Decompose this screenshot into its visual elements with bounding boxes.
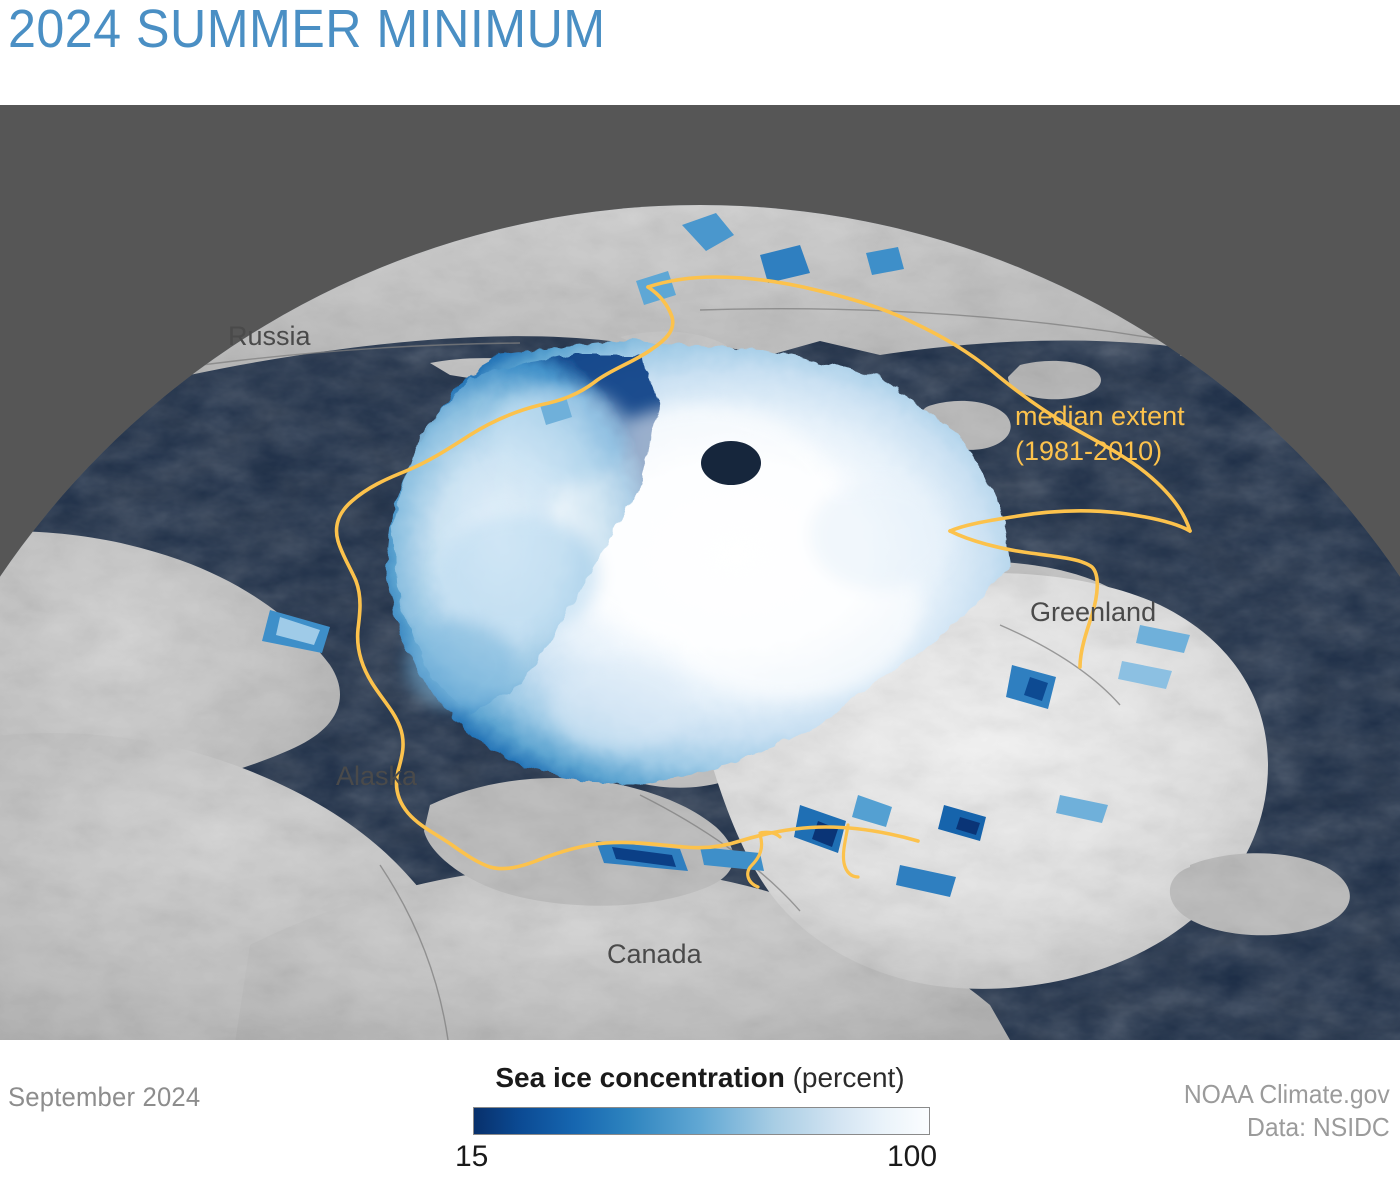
map-canvas: Russia Greenland Alaska Canada median ex… bbox=[0, 105, 1400, 1040]
colorbar bbox=[473, 1107, 930, 1135]
arctic-map: Russia Greenland Alaska Canada median ex… bbox=[0, 105, 1400, 1040]
credit-block: NOAA Climate.gov Data: NSIDC bbox=[1173, 1078, 1390, 1144]
footer: September 2024 Sea ice concentration (pe… bbox=[0, 1040, 1400, 1200]
map-label-russia: Russia bbox=[228, 321, 312, 351]
legend-title: Sea ice concentration (percent) bbox=[455, 1062, 945, 1094]
map-label-greenland: Greenland bbox=[1030, 597, 1156, 627]
sea-ice-graphic: 2024 SUMMER MINIMUM bbox=[0, 0, 1400, 1200]
map-label-canada: Canada bbox=[607, 939, 703, 969]
map-label-alaska: Alaska bbox=[336, 761, 418, 791]
colorbar-tick-max: 100 bbox=[887, 1140, 937, 1174]
iceland bbox=[1170, 853, 1350, 935]
page-title: 2024 SUMMER MINIMUM bbox=[8, 0, 606, 60]
credit-publisher: NOAA Climate.gov bbox=[1184, 1078, 1390, 1111]
legend-title-main: Sea ice concentration bbox=[495, 1062, 784, 1093]
colorbar-tick-min: 15 bbox=[455, 1140, 488, 1174]
date-label: September 2024 bbox=[8, 1082, 200, 1113]
title-bar: 2024 SUMMER MINIMUM bbox=[0, 0, 1400, 105]
credit-source: Data: NSIDC bbox=[1184, 1111, 1390, 1144]
legend: Sea ice concentration (percent) 15 100 bbox=[455, 1062, 945, 1182]
pole-hole bbox=[701, 441, 761, 485]
median-extent-label-line1: median extent bbox=[1015, 401, 1185, 431]
median-extent-label-line2: (1981-2010) bbox=[1015, 436, 1162, 466]
legend-title-units: (percent) bbox=[793, 1062, 905, 1093]
